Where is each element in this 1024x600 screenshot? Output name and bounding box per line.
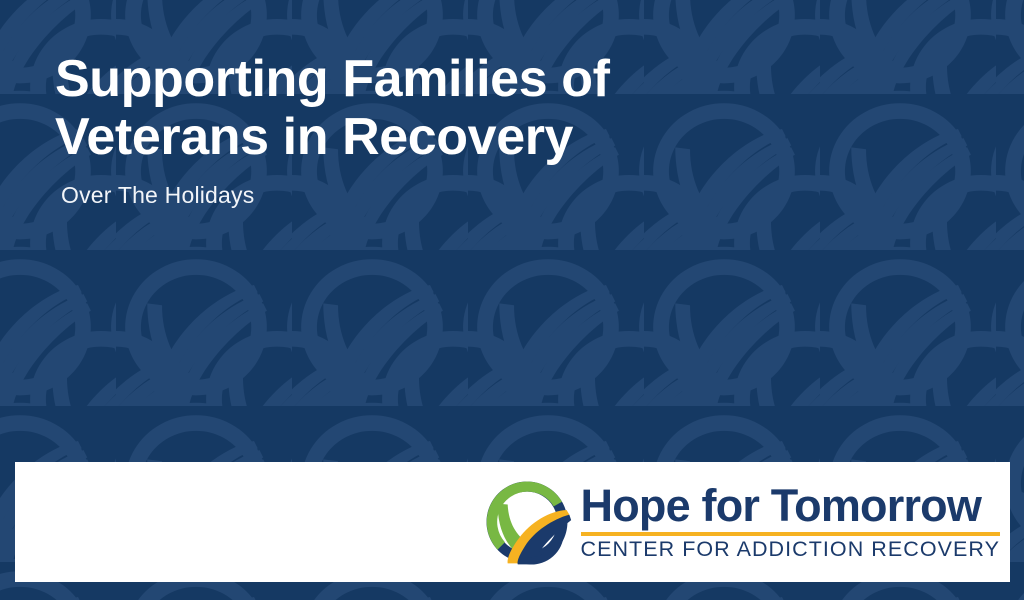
swoosh-circle-logo-icon [481, 476, 573, 568]
logo-text-lockup: Hope for Tomorrow CENTER FOR ADDICTION R… [581, 484, 1001, 561]
page-title: Supporting Families of Veterans in Recov… [55, 50, 695, 166]
logo-wordmark: Hope for Tomorrow [581, 484, 1001, 528]
presentation-slide: Supporting Families of Veterans in Recov… [0, 0, 1024, 600]
footer-bar: Hope for Tomorrow CENTER FOR ADDICTION R… [15, 462, 1010, 582]
logo-gold-rule [581, 532, 1001, 536]
logo-tagline: CENTER FOR ADDICTION RECOVERY [581, 539, 1001, 561]
title-block: Supporting Families of Veterans in Recov… [55, 50, 695, 209]
organization-logo: Hope for Tomorrow CENTER FOR ADDICTION R… [481, 474, 1001, 570]
page-subtitle: Over The Holidays [61, 182, 695, 209]
